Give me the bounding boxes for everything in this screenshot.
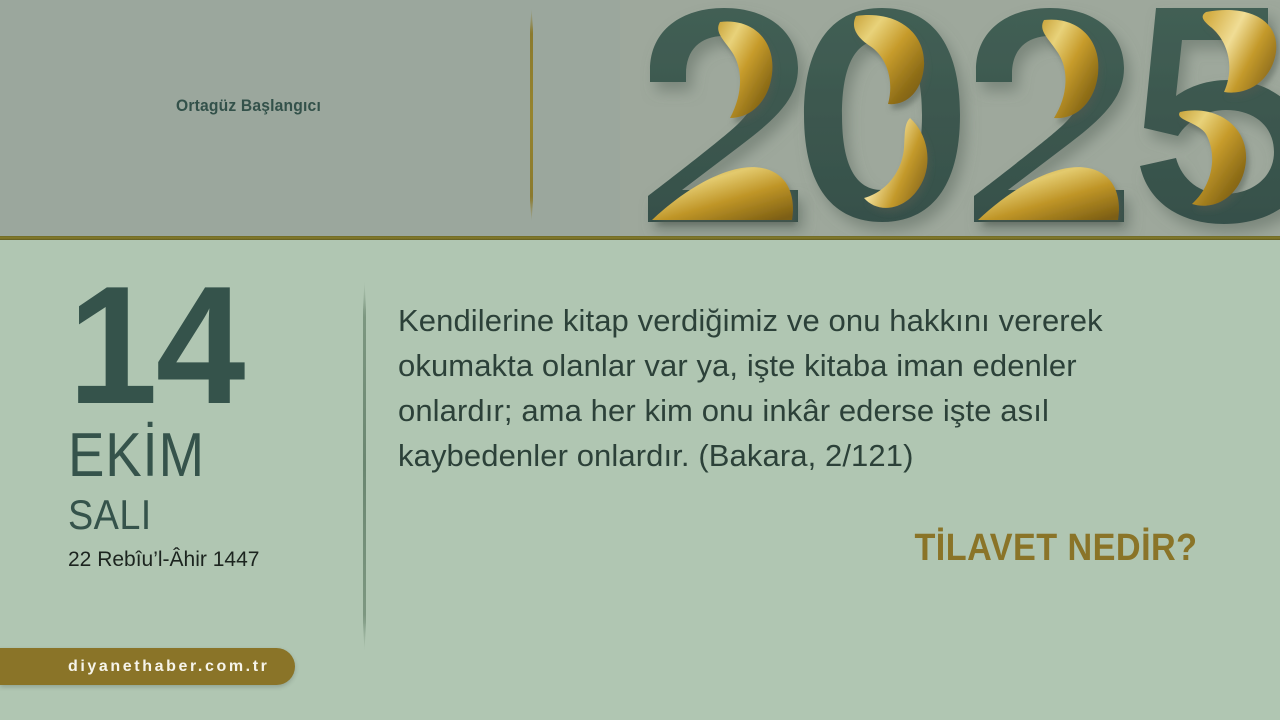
date-block: 14 EKİM SALI 22 Rebîu’l-Âhir 1447 [68,270,338,572]
date-weekday: SALI [68,494,311,536]
header-divider-rule [0,236,1280,240]
header-label: Ortagüz Başlangıcı [176,96,321,116]
year-accent-wedge-3 [1203,10,1277,93]
site-badge[interactable]: diyanethaber.com.tr [0,648,295,685]
article-headline: TİLAVET NEDİR? [915,528,1198,568]
vertical-divider-icon [530,8,533,222]
content-divider-icon [363,280,366,652]
year-2025-svg [620,0,1280,236]
date-day: 14 [68,270,327,420]
quote-text: Kendilerine kitap verdiğimiz ve onu hakk… [398,298,1188,478]
header-bar: Ortagüz Başlangıcı [0,0,1280,238]
calendar-page: Ortagüz Başlangıcı [0,0,1280,720]
year-2025-3d-graphic [620,0,1280,236]
date-month: EKİM [68,426,306,486]
site-badge-label: diyanethaber.com.tr [68,658,269,676]
date-hijri: 22 Rebîu’l-Âhir 1447 [68,548,338,572]
